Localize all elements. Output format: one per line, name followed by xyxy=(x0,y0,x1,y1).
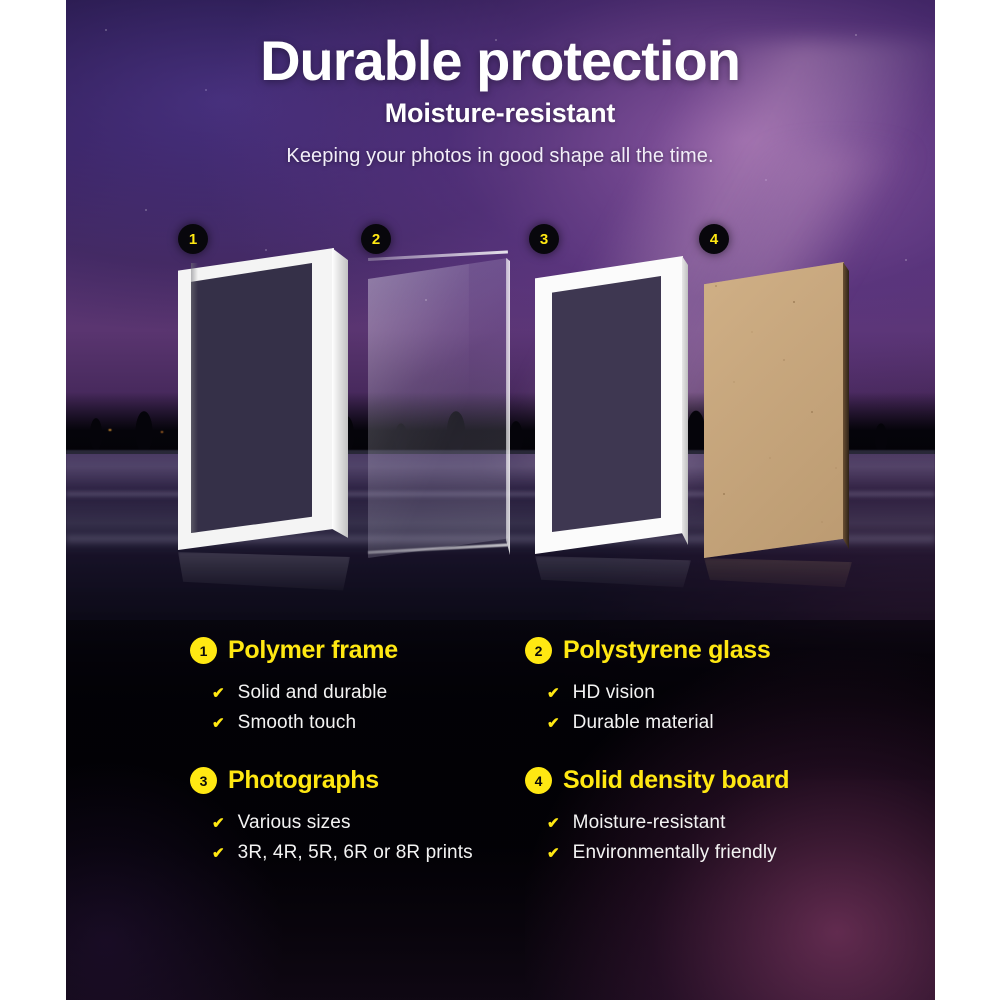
glass-top-edge xyxy=(368,250,508,261)
feature-header: 1 Polymer frame xyxy=(190,636,515,665)
list-item: ✔HD vision xyxy=(547,678,850,708)
frame-opening xyxy=(191,263,312,533)
feature-title-2: Polystyrene glass xyxy=(563,636,771,665)
page-description: Keeping your photos in good shape all th… xyxy=(0,145,1000,168)
check-icon: ✔ xyxy=(212,682,225,706)
bullet-text: Moisture-resistant xyxy=(573,808,726,838)
check-icon: ✔ xyxy=(547,682,560,706)
feature-bullets-4: ✔Moisture-resistant ✔Environmentally fri… xyxy=(525,808,850,868)
feature-header: 3 Photographs xyxy=(190,766,515,795)
list-item: ✔Various sizes xyxy=(212,808,515,838)
part-badge-4: 4 xyxy=(699,224,729,254)
mat-reflection xyxy=(535,556,691,610)
feature-title-1: Polymer frame xyxy=(228,636,398,665)
feature-bullets-2: ✔HD vision ✔Durable material xyxy=(525,678,850,738)
list-item: ✔3R, 4R, 5R, 6R or 8R prints xyxy=(212,838,515,868)
list-item: ✔Durable material xyxy=(547,708,850,738)
feature-bullets-3: ✔Various sizes ✔3R, 4R, 5R, 6R or 8R pri… xyxy=(190,808,515,868)
check-icon: ✔ xyxy=(547,712,560,736)
list-item: ✔Environmentally friendly xyxy=(547,838,850,868)
list-item: ✔Moisture-resistant xyxy=(547,808,850,838)
feature-grid: 1 Polymer frame ✔Solid and durable ✔Smoo… xyxy=(0,636,1000,868)
header-block: Durable protection Moisture-resistant Ke… xyxy=(0,32,1000,168)
bullet-text: Environmentally friendly xyxy=(573,838,777,868)
bullet-text: Durable material xyxy=(573,708,714,738)
feature-title-3: Photographs xyxy=(228,766,379,795)
feature-header: 2 Polystyrene glass xyxy=(525,636,850,665)
board-face xyxy=(704,262,844,558)
infographic-canvas: Durable protection Moisture-resistant Ke… xyxy=(0,0,1000,1000)
board-side-edge xyxy=(843,262,849,558)
density-board-part xyxy=(704,262,844,558)
page-title: Durable protection xyxy=(0,32,1000,90)
check-icon: ✔ xyxy=(212,812,225,836)
list-item: ✔Solid and durable xyxy=(212,678,515,708)
photographs-mat-part xyxy=(535,256,683,554)
feature-solid-density-board: 4 Solid density board ✔Moisture-resistan… xyxy=(525,766,850,868)
feature-title-4: Solid density board xyxy=(563,766,789,795)
bullet-text: Smooth touch xyxy=(238,708,356,738)
check-icon: ✔ xyxy=(547,812,560,836)
bullet-text: Solid and durable xyxy=(238,678,388,708)
check-icon: ✔ xyxy=(212,712,225,736)
feature-badge-2: 2 xyxy=(525,637,552,664)
board-reflection xyxy=(704,558,852,610)
feature-bullets-1: ✔Solid and durable ✔Smooth touch xyxy=(190,678,515,738)
part-badge-3: 3 xyxy=(529,224,559,254)
part-badge-2: 2 xyxy=(361,224,391,254)
check-icon: ✔ xyxy=(547,842,560,866)
bullet-text: HD vision xyxy=(573,678,655,708)
mat-opening xyxy=(552,276,661,532)
bullet-text: 3R, 4R, 5R, 6R or 8R prints xyxy=(238,838,473,868)
frame-reflection xyxy=(178,552,350,614)
mat-side-edge xyxy=(682,256,688,554)
frame-inner-shadow xyxy=(191,263,198,533)
page-subtitle: Moisture-resistant xyxy=(0,98,1000,129)
check-icon: ✔ xyxy=(212,842,225,866)
part-badge-1: 1 xyxy=(178,224,208,254)
bullet-text: Various sizes xyxy=(238,808,351,838)
feature-header: 4 Solid density board xyxy=(525,766,850,795)
feature-polystyrene-glass: 2 Polystyrene glass ✔HD vision ✔Durable … xyxy=(525,636,850,738)
glass-sheen xyxy=(368,258,469,558)
polymer-frame-part xyxy=(178,248,334,550)
feature-badge-4: 4 xyxy=(525,767,552,794)
frame-side-edge xyxy=(332,248,348,550)
feature-photographs: 3 Photographs ✔Various sizes ✔3R, 4R, 5R… xyxy=(190,766,515,868)
glass-right-edge xyxy=(506,258,510,558)
list-item: ✔Smooth touch xyxy=(212,708,515,738)
feature-badge-3: 3 xyxy=(190,767,217,794)
polystyrene-glass-part xyxy=(368,258,508,558)
feature-polymer-frame: 1 Polymer frame ✔Solid and durable ✔Smoo… xyxy=(190,636,515,738)
feature-badge-1: 1 xyxy=(190,637,217,664)
